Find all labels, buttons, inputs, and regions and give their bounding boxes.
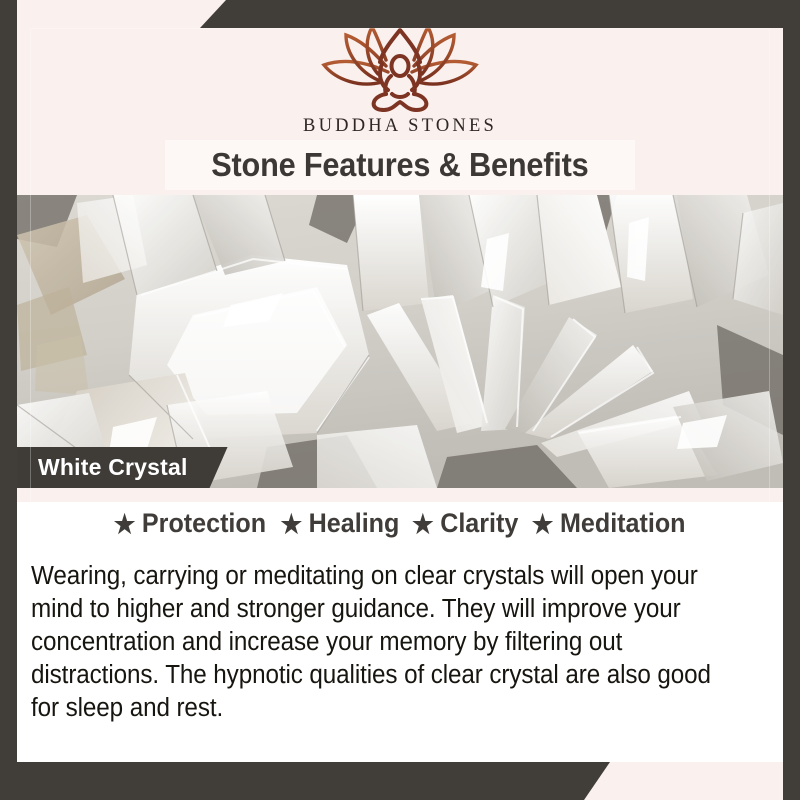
crystal-photo-artwork [17, 195, 783, 488]
frame-top-right-bar [200, 0, 800, 28]
benefit-item-clarity: ★ Clarity [412, 510, 518, 537]
brand-logo: BUDDHA STONES [17, 18, 783, 137]
title-banner: Stone Features & Benefits [166, 141, 634, 189]
description-text: Wearing, carrying or meditating on clear… [31, 560, 721, 725]
photo-label-text: White Crystal [38, 454, 188, 481]
star-icon: ★ [412, 511, 434, 537]
star-icon: ★ [532, 511, 554, 537]
infographic-card: BUDDHA STONES Stone Features & Benefits [0, 0, 800, 800]
frame-right-bar [783, 0, 800, 800]
lotus-meditation-figure-icon [310, 18, 490, 114]
frame-left-bar [0, 0, 17, 800]
body-top-strip [17, 488, 783, 502]
star-icon: ★ [281, 511, 303, 537]
frame-bottom-left-bar [0, 762, 610, 800]
brand-name: BUDDHA STONES [303, 116, 497, 137]
benefits-list: ★ Protection ★ Healing ★ Clarity ★ Medit… [17, 510, 783, 537]
star-icon: ★ [114, 511, 136, 537]
benefit-label: Protection [142, 510, 266, 537]
benefit-label: Clarity [440, 510, 518, 537]
benefit-item-meditation: ★ Meditation [532, 510, 686, 537]
photo-label: White Crystal [0, 447, 228, 488]
benefit-label: Meditation [560, 510, 686, 537]
benefit-label: Healing [309, 510, 400, 537]
page-title: Stone Features & Benefits [211, 146, 588, 184]
benefit-item-protection: ★ Protection [114, 510, 266, 537]
benefit-item-healing: ★ Healing [281, 510, 400, 537]
crystal-photo [17, 195, 783, 488]
description-section: ★ Protection ★ Healing ★ Clarity ★ Medit… [17, 488, 783, 762]
